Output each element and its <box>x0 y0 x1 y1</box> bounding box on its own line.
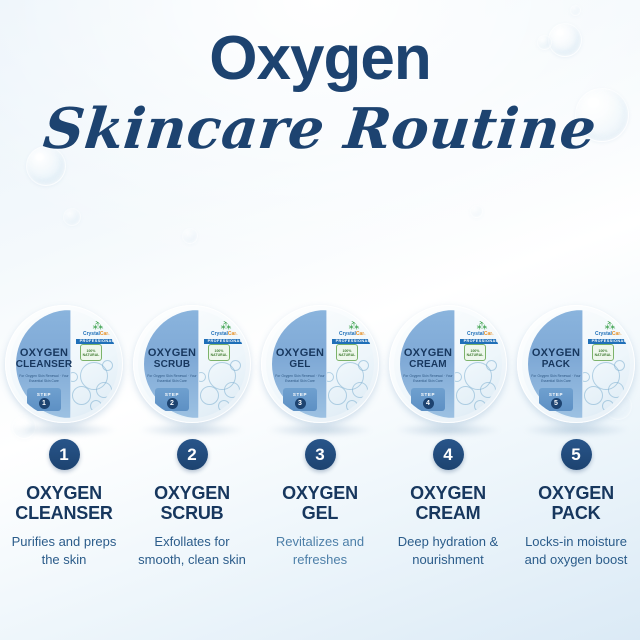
step-badge-label: STEP <box>411 392 445 397</box>
jar-lid: ⁂ CrystalCare PROFESSIONAL 100% NATURAL … <box>522 310 630 418</box>
jar-lid: ⁂ CrystalCare PROFESSIONAL 100% NATURAL … <box>138 310 246 418</box>
step-title-line1: OXYGEN <box>15 483 112 503</box>
step-title-line1: OXYGEN <box>154 483 230 503</box>
step-number-circle: 4 <box>433 439 464 470</box>
step-number-circle: 2 <box>177 439 208 470</box>
step-badge: STEP 4 <box>411 388 445 411</box>
jar-product-line2: CLEANSER <box>14 360 74 371</box>
lid-bubble-icon <box>486 360 497 371</box>
brand-name-part2: Care <box>612 331 623 337</box>
step-title-line1: OXYGEN <box>538 483 614 503</box>
lid-bubble-icon <box>602 400 614 412</box>
lid-bubble-icon <box>230 360 241 371</box>
jar-product-line1: OXYGEN <box>270 348 330 360</box>
step-badge-number: 2 <box>167 398 178 409</box>
infographic-canvas: Oxygen Skincare Routine ⁂ Cry <box>0 0 640 640</box>
brand-logo: ⁂ CrystalCare PROFESSIONAL <box>460 322 502 344</box>
routine-step-2[interactable]: ⁂ CrystalCare PROFESSIONAL 100% NATURAL … <box>128 305 256 568</box>
step-number-circle: 5 <box>561 439 592 470</box>
leaf-icon: ⁂ <box>460 322 502 331</box>
step-badge-number: 1 <box>39 398 50 409</box>
step-title-line2: PACK <box>538 503 614 523</box>
step-title-line1: OXYGEN <box>282 483 358 503</box>
natural-seal-text: 100% NATURAL <box>337 349 357 357</box>
lid-bubble-icon <box>96 382 112 398</box>
natural-seal-text: 100% NATURAL <box>465 349 485 357</box>
jar-product-line2: CREAM <box>398 360 458 371</box>
step-badge-number: 4 <box>423 398 434 409</box>
step-badge: STEP 2 <box>155 388 189 411</box>
brand-name-part2: Care <box>228 331 239 337</box>
step-badge-number: 3 <box>295 398 306 409</box>
step-title-line2: CREAM <box>410 503 486 523</box>
lid-bubble-icon <box>224 382 240 398</box>
background-bubble-icon <box>63 208 81 226</box>
product-jar[interactable]: ⁂ CrystalCare PROFESSIONAL 100% NATURAL … <box>389 305 507 423</box>
brand-qualifier: PROFESSIONAL <box>204 339 246 344</box>
page-subtitle: Skincare Routine <box>0 100 640 159</box>
brand-qualifier: PROFESSIONAL <box>76 339 118 344</box>
brand-qualifier: PROFESSIONAL <box>460 339 502 344</box>
page-title: Oxygen <box>0 28 640 90</box>
lid-bubble-icon <box>200 386 219 405</box>
natural-seal-icon: 100% NATURAL <box>464 344 486 361</box>
lid-bubble-icon <box>328 386 347 405</box>
brand-name-part2: Care <box>100 331 111 337</box>
natural-seal-icon: 100% NATURAL <box>208 344 230 361</box>
routine-step-5[interactable]: ⁂ CrystalCare PROFESSIONAL 100% NATURAL … <box>512 305 640 568</box>
brand-name-part1: Crystal <box>83 331 100 337</box>
step-title: OXYGEN GEL <box>282 483 358 523</box>
brand-name: CrystalCare <box>588 332 630 338</box>
jar-shadow <box>524 423 628 437</box>
step-badge-label: STEP <box>155 392 189 397</box>
jar-shadow <box>268 423 372 437</box>
jar-product-line2: GEL <box>270 360 330 371</box>
step-number-circle: 3 <box>305 439 336 470</box>
brand-logo: ⁂ CrystalCare PROFESSIONAL <box>332 322 374 344</box>
jar-microcopy: For Oxygen Skin Renewal · Your Essential… <box>272 374 328 384</box>
brand-qualifier: PROFESSIONAL <box>332 339 374 344</box>
lid-bubble-icon <box>90 400 102 412</box>
step-description: Deep hydration & nourishment <box>384 533 512 568</box>
lid-bubble-icon <box>72 386 91 405</box>
lid-bubble-icon <box>474 400 486 412</box>
step-title-line1: OXYGEN <box>410 483 486 503</box>
brand-name: CrystalCare <box>332 332 374 338</box>
brand-name-part2: Care <box>484 331 495 337</box>
leaf-icon: ⁂ <box>332 322 374 331</box>
lid-bubble-icon <box>102 360 113 371</box>
routine-steps-row: ⁂ CrystalCare PROFESSIONAL 100% NATURAL … <box>0 305 640 568</box>
background-bubble-icon <box>470 205 483 218</box>
brand-name: CrystalCare <box>460 332 502 338</box>
jar-lid: ⁂ CrystalCare PROFESSIONAL 100% NATURAL … <box>394 310 502 418</box>
product-jar[interactable]: ⁂ CrystalCare PROFESSIONAL 100% NATURAL … <box>517 305 635 423</box>
natural-seal-text: 100% NATURAL <box>81 349 101 357</box>
jar-product-line2: SCRUB <box>142 360 202 371</box>
step-description: Purifies and preps the skin <box>0 533 128 568</box>
leaf-icon: ⁂ <box>588 322 630 331</box>
step-title: OXYGEN PACK <box>538 483 614 523</box>
step-badge-number: 5 <box>551 398 562 409</box>
lid-bubble-icon <box>584 386 603 405</box>
jar-shadow <box>396 423 500 437</box>
lid-bubble-icon <box>614 360 625 371</box>
lid-bubble-icon <box>456 386 475 405</box>
leaf-icon: ⁂ <box>76 322 118 331</box>
brand-name-part1: Crystal <box>211 331 228 337</box>
product-jar[interactable]: ⁂ CrystalCare PROFESSIONAL 100% NATURAL … <box>5 305 123 423</box>
jar-microcopy: For Oxygen Skin Renewal · Your Essential… <box>400 374 456 384</box>
jar-lid: ⁂ CrystalCare PROFESSIONAL 100% NATURAL … <box>266 310 374 418</box>
brand-qualifier: PROFESSIONAL <box>588 339 630 344</box>
step-title: OXYGEN SCRUB <box>154 483 230 523</box>
lid-bubble-icon <box>358 360 369 371</box>
natural-seal-icon: 100% NATURAL <box>80 344 102 361</box>
brand-name-part1: Crystal <box>339 331 356 337</box>
jar-lid: ⁂ CrystalCare PROFESSIONAL 100% NATURAL … <box>10 310 118 418</box>
lid-bubble-icon <box>608 382 624 398</box>
step-badge-label: STEP <box>283 392 317 397</box>
lid-bubble-icon <box>480 382 496 398</box>
background-bubble-icon <box>182 228 198 244</box>
jar-microcopy: For Oxygen Skin Renewal · Your Essential… <box>144 374 200 384</box>
brand-logo: ⁂ CrystalCare PROFESSIONAL <box>204 322 246 344</box>
step-title: OXYGEN CLEANSER <box>15 483 112 523</box>
natural-seal-icon: 100% NATURAL <box>592 344 614 361</box>
jar-microcopy: For Oxygen Skin Renewal · Your Essential… <box>16 374 72 384</box>
brand-name: CrystalCare <box>204 332 246 338</box>
jar-shadow <box>12 423 116 437</box>
leaf-icon: ⁂ <box>204 322 246 331</box>
brand-name-part2: Care <box>356 331 367 337</box>
product-jar[interactable]: ⁂ CrystalCare PROFESSIONAL 100% NATURAL … <box>261 305 379 423</box>
jar-product-line1: OXYGEN <box>14 348 74 360</box>
step-badge: STEP 3 <box>283 388 317 411</box>
step-description: Revitalizes and refreshes <box>256 533 384 568</box>
brand-logo: ⁂ CrystalCare PROFESSIONAL <box>76 322 118 344</box>
step-description: Locks-in moisture and oxygen boost <box>512 533 640 568</box>
header: Oxygen Skincare Routine <box>0 0 640 159</box>
step-badge: STEP 5 <box>539 388 573 411</box>
lid-bubble-icon <box>218 400 230 412</box>
routine-step-1[interactable]: ⁂ CrystalCare PROFESSIONAL 100% NATURAL … <box>0 305 128 568</box>
jar-shadow <box>140 423 244 437</box>
step-title-line2: GEL <box>282 503 358 523</box>
product-jar[interactable]: ⁂ CrystalCare PROFESSIONAL 100% NATURAL … <box>133 305 251 423</box>
natural-seal-text: 100% NATURAL <box>209 349 229 357</box>
jar-product-line1: OXYGEN <box>142 348 202 360</box>
step-title: OXYGEN CREAM <box>410 483 486 523</box>
natural-seal-text: 100% NATURAL <box>593 349 613 357</box>
jar-product-line2: PACK <box>526 360 586 371</box>
jar-product-line1: OXYGEN <box>526 348 586 360</box>
step-badge-label: STEP <box>539 392 573 397</box>
jar-microcopy: For Oxygen Skin Renewal · Your Essential… <box>528 374 584 384</box>
brand-name: CrystalCare <box>76 332 118 338</box>
brand-logo: ⁂ CrystalCare PROFESSIONAL <box>588 322 630 344</box>
step-title-line2: SCRUB <box>154 503 230 523</box>
step-badge: STEP 1 <box>27 388 61 411</box>
jar-product-line1: OXYGEN <box>398 348 458 360</box>
lid-bubble-icon <box>352 382 368 398</box>
natural-seal-icon: 100% NATURAL <box>336 344 358 361</box>
brand-name-part1: Crystal <box>467 331 484 337</box>
routine-step-4[interactable]: ⁂ CrystalCare PROFESSIONAL 100% NATURAL … <box>384 305 512 568</box>
routine-step-3[interactable]: ⁂ CrystalCare PROFESSIONAL 100% NATURAL … <box>256 305 384 568</box>
step-badge-label: STEP <box>27 392 61 397</box>
lid-bubble-icon <box>346 400 358 412</box>
step-number-circle: 1 <box>49 439 80 470</box>
step-description: Exfollates for smooth, clean skin <box>128 533 256 568</box>
brand-name-part1: Crystal <box>595 331 612 337</box>
step-title-line2: CLEANSER <box>15 503 112 523</box>
